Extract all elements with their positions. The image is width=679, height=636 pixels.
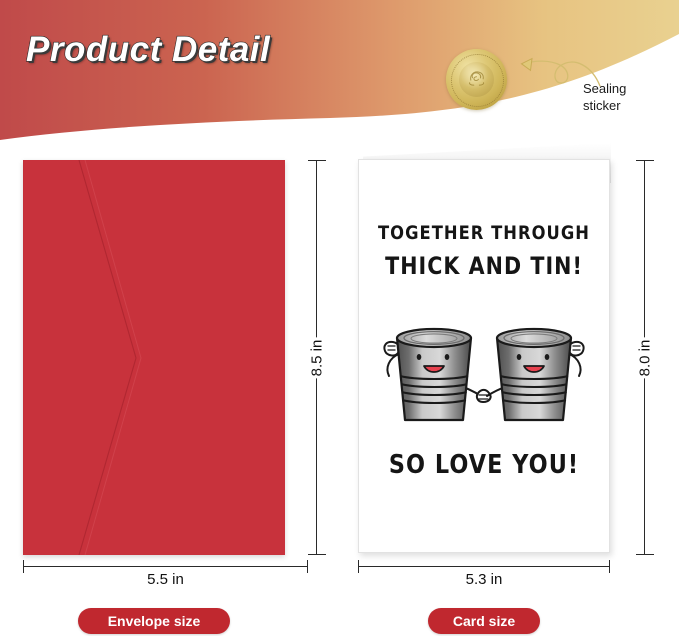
page-title: Product Detail	[26, 30, 270, 70]
sealing-sticker	[446, 49, 507, 110]
dimension-cap-top	[308, 160, 326, 161]
dimension-cap-bottom	[308, 554, 326, 555]
right-tin-can	[487, 329, 584, 420]
dimension-line	[23, 566, 308, 567]
card-text-line-3: SO LOVE YOU!	[377, 450, 592, 480]
envelope-width-label: 5.5 in	[23, 571, 308, 588]
sealing-sticker-label-line-2: sticker	[583, 97, 675, 114]
rose-emboss-icon	[463, 65, 490, 92]
sealing-sticker-label-line-1: Sealing	[583, 80, 675, 97]
dimension-line	[358, 566, 610, 567]
envelope-width-dimension: 5.5 in	[23, 566, 308, 592]
greeting-card: TOGETHER THROUGH THICK AND TIN!	[355, 143, 613, 555]
red-envelope	[23, 160, 285, 555]
dimension-cap-top	[636, 160, 654, 161]
card-width-label: 5.3 in	[358, 571, 610, 588]
dimension-cap-bottom	[636, 554, 654, 555]
card-width-dimension: 5.3 in	[358, 566, 610, 592]
envelope-height-dimension: 8.5 in	[297, 160, 337, 555]
card-text-line-1: TOGETHER THROUGH	[377, 222, 592, 244]
card-front-panel: TOGETHER THROUGH THICK AND TIN!	[358, 159, 610, 553]
envelope-size-badge: Envelope size	[78, 608, 230, 634]
card-size-badge: Card size	[428, 608, 540, 634]
envelope-flap-lines	[23, 160, 285, 555]
envelope-height-label: 8.5 in	[306, 337, 329, 378]
left-tin-can	[384, 329, 481, 420]
card-height-dimension: 8.0 in	[625, 160, 665, 555]
card-text-line-2: THICK AND TIN!	[377, 252, 592, 280]
card-height-label: 8.0 in	[634, 337, 657, 378]
sealing-sticker-label: Sealing sticker	[583, 80, 675, 114]
tin-cans-holding-hands-illustration	[375, 312, 593, 436]
